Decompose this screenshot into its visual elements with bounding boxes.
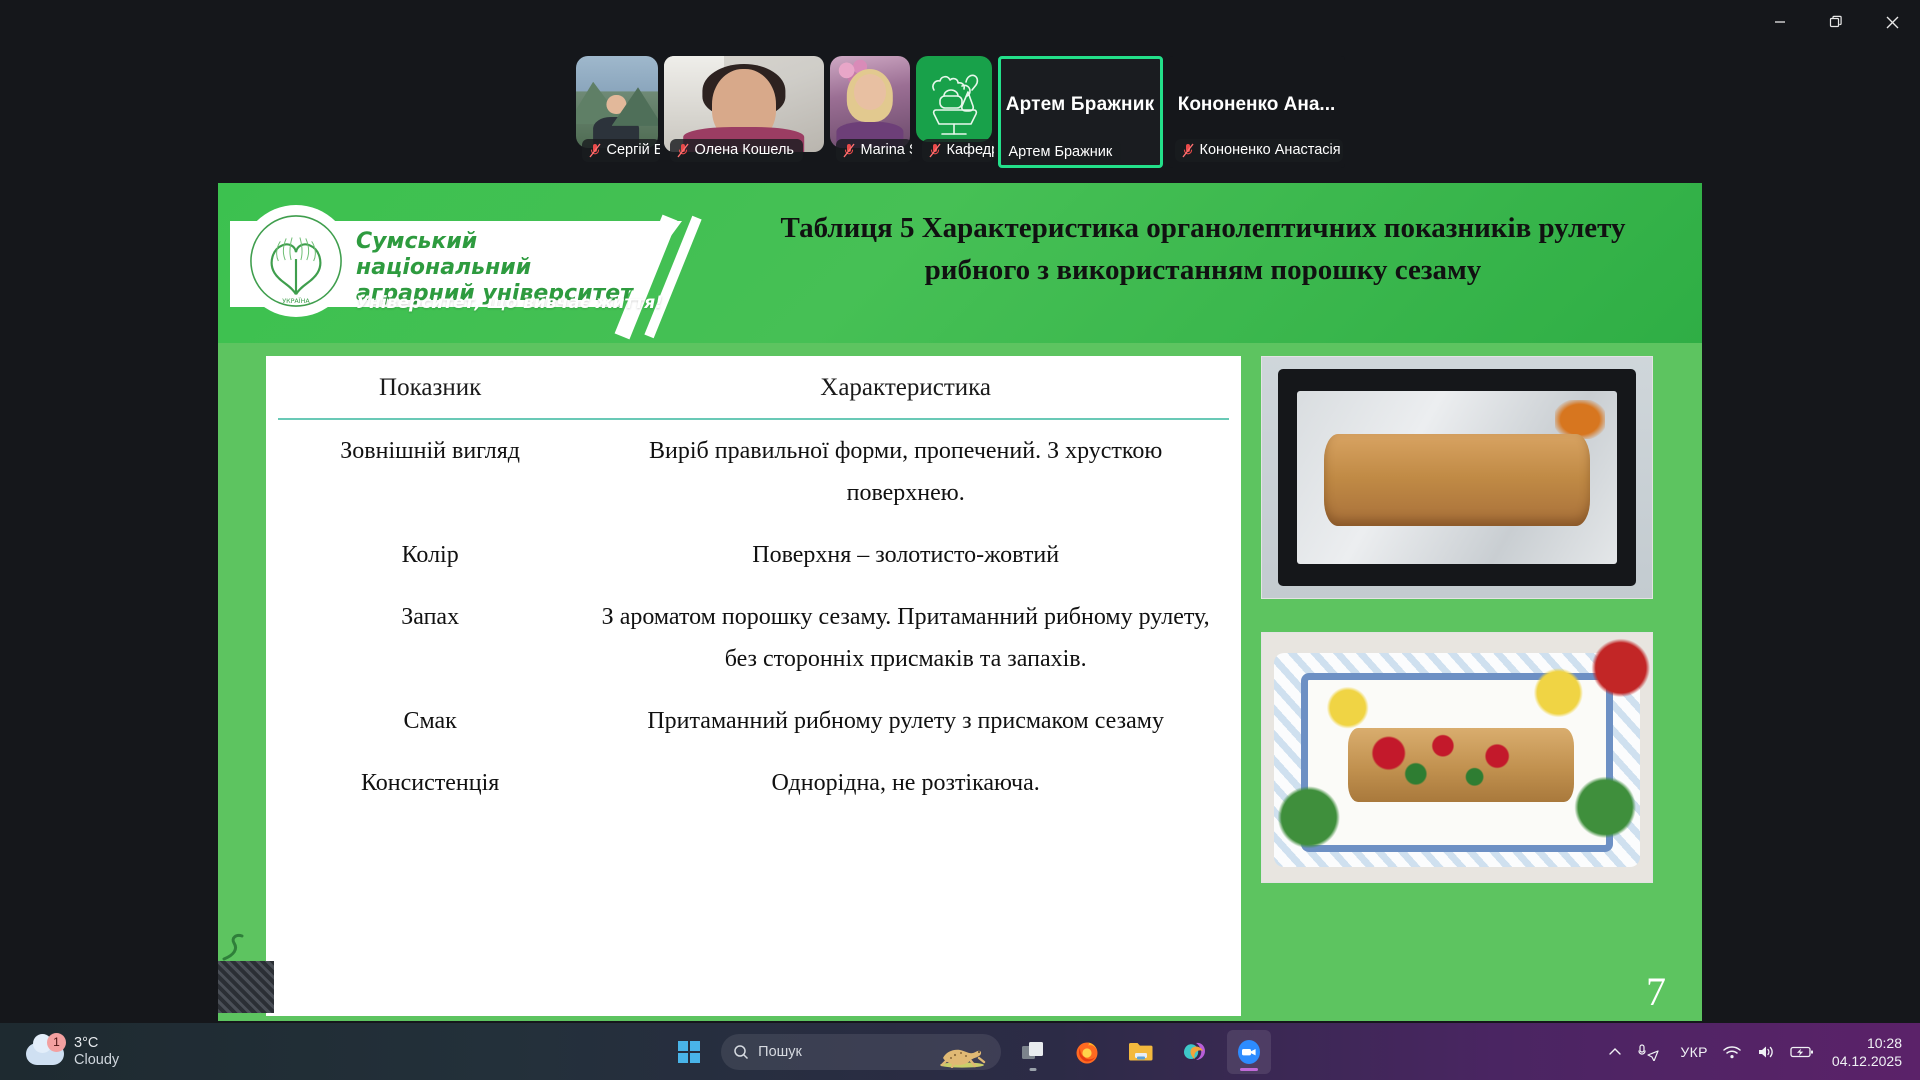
notification-badge: 1 (47, 1033, 66, 1052)
weather-temperature: 3°C (74, 1035, 119, 1052)
microphone-sharing-icon[interactable] (1636, 1043, 1666, 1061)
active-speaker-name: Артем Бражник (1006, 94, 1155, 130)
cell-description: З ароматом порошку сезаму. Притаманний р… (582, 586, 1229, 690)
organoleptic-table-card: Показник Характеристика Зовнішній вигляд… (266, 356, 1241, 1016)
system-tray: УКР 10:28 04.12.2025 (1608, 1034, 1920, 1070)
column-header-characteristic: Характеристика (582, 356, 1229, 419)
slide-title: Таблиця 5 Характеристика органолептичних… (738, 207, 1668, 291)
clock-time: 10:28 (1832, 1034, 1902, 1052)
copilot-button[interactable] (1173, 1030, 1217, 1074)
cell-indicator: Смак (278, 690, 582, 752)
cell-indicator: Зовнішній вигляд (278, 419, 582, 524)
university-name-line1: Сумський національний (356, 229, 656, 281)
slide-images (1261, 356, 1653, 883)
participant-name: Кафедра Технології ха... (947, 142, 995, 158)
cell-indicator: Колір (278, 524, 582, 586)
windows-logo-icon (678, 1041, 700, 1063)
participant-tile-active-speaker[interactable]: Артем Бражник Артем Бражник (998, 56, 1163, 168)
mic-off-icon (1182, 143, 1194, 158)
task-view-button[interactable] (1011, 1030, 1055, 1074)
taskbar-apps: Пошук (330, 1030, 1608, 1074)
baked-roll-photo (1261, 356, 1653, 599)
participant-name-chip: Marina Savchenko (836, 139, 913, 162)
participant-name: Кононенко Анастасія (1200, 142, 1341, 158)
clock-date: 04.12.2025 (1832, 1052, 1902, 1070)
taskbar: 1 3°C Cloudy Пошук (0, 1023, 1920, 1080)
task-view-icon (1021, 1041, 1045, 1063)
table-row: Смак Притаманний рибному рулету з присма… (278, 690, 1229, 752)
participant-name-chip: Кафедра Технології ха... (922, 139, 995, 162)
table-row: Запах З ароматом порошку сезаму. Притама… (278, 586, 1229, 690)
weather-text: 3°C Cloudy (74, 1035, 119, 1069)
participant-avatar (830, 56, 910, 148)
table-header-row: Показник Характеристика (278, 356, 1229, 419)
cell-indicator: Запах (278, 586, 582, 690)
window-controls (1752, 0, 1920, 44)
firefox-icon (1074, 1039, 1100, 1065)
weather-widget[interactable]: 1 3°C Cloudy (0, 1035, 330, 1069)
close-button[interactable] (1864, 0, 1920, 44)
participant-tile[interactable]: Marina Savchenko (830, 56, 910, 168)
participant-tile[interactable]: Сергій Боковець (576, 56, 658, 168)
slide-header: УКРАЇНА Сумський національний аграрний у… (218, 183, 1702, 343)
language-indicator[interactable]: УКР (1680, 1044, 1708, 1060)
volume-icon[interactable] (1756, 1044, 1776, 1060)
cheetah-icon (933, 1038, 991, 1068)
participant-name-chip: Олена Кошель (670, 139, 803, 162)
participant-tile[interactable]: Олена Кошель (664, 56, 824, 168)
plated-roll-photo (1261, 632, 1653, 883)
food-technology-logo-icon (916, 56, 992, 142)
squiggle-decoration (220, 921, 264, 961)
participant-name-chip: Сергій Боковець (582, 139, 661, 162)
file-explorer-button[interactable] (1119, 1030, 1163, 1074)
weather-condition: Cloudy (74, 1052, 119, 1069)
wifi-icon[interactable] (1722, 1044, 1742, 1060)
minimize-button[interactable] (1752, 0, 1808, 44)
battery-charging-icon[interactable] (1790, 1044, 1814, 1060)
participant-video (664, 56, 824, 152)
participant-name: Олена Кошель (695, 142, 794, 158)
cell-description: Притаманний рибному рулету з присмаком с… (582, 690, 1229, 752)
participant-tile[interactable]: Кафедра Технології ха... (916, 56, 992, 168)
table-row: Зовнішній вигляд Виріб правильної форми,… (278, 419, 1229, 524)
mic-off-icon (677, 143, 689, 158)
table-row: Колір Поверхня – золотисто-жовтий (278, 524, 1229, 586)
mic-off-icon (929, 143, 941, 158)
university-tagline: Університет, що вивчає життя! (356, 293, 663, 313)
shared-screen-slide[interactable]: УКРАЇНА Сумський національний аграрний у… (218, 183, 1702, 1021)
zoom-button[interactable] (1227, 1030, 1271, 1074)
mic-off-icon (843, 143, 855, 158)
participant-tile[interactable]: Кононенко Ана... Кононенко Анастасія (1169, 56, 1345, 168)
maximize-restore-button[interactable] (1808, 0, 1864, 44)
clock[interactable]: 10:28 04.12.2025 (1828, 1034, 1902, 1070)
hatched-placeholder (218, 961, 274, 1013)
slide-number: 7 (1646, 968, 1666, 1015)
zoom-icon (1236, 1039, 1262, 1065)
search-icon (733, 1044, 749, 1060)
copilot-icon (1182, 1039, 1208, 1065)
participant-name: Артем Бражник (1009, 144, 1113, 160)
participant-name-chip: Кононенко Анастасія (1175, 139, 1344, 162)
university-emblem-icon: УКРАЇНА (240, 205, 352, 317)
university-logo: УКРАЇНА Сумський національний аграрний у… (230, 201, 750, 321)
participant-avatar-logo (916, 56, 992, 142)
mic-off-icon (589, 143, 601, 158)
participant-name: Marina Savchenko (861, 142, 913, 158)
emblem-country-text: УКРАЇНА (282, 296, 310, 305)
participant-name-chip: Артем Бражник (1002, 141, 1122, 164)
start-button[interactable] (667, 1030, 711, 1074)
slide-body: Показник Характеристика Зовнішній вигляд… (218, 343, 1702, 1021)
firefox-button[interactable] (1065, 1030, 1109, 1074)
search-placeholder: Пошук (758, 1044, 802, 1060)
search-box[interactable]: Пошук (721, 1034, 1001, 1070)
participant-strip: Сергій Боковець Олена Кошель Marina Sa (0, 56, 1920, 176)
table-row: Консистенція Однорідна, не розтікаюча. (278, 752, 1229, 814)
participant-display-name: Кононенко Ана... (1178, 94, 1336, 130)
cell-description: Виріб правильної форми, пропечений. З хр… (582, 419, 1229, 524)
cell-description: Поверхня – золотисто-жовтий (582, 524, 1229, 586)
organoleptic-table: Показник Характеристика Зовнішній вигляд… (278, 356, 1229, 814)
column-header-indicator: Показник (278, 356, 582, 419)
participant-avatar (576, 56, 658, 148)
weather-cloud-icon: 1 (26, 1035, 64, 1069)
chevron-up-icon[interactable] (1608, 1045, 1622, 1059)
cell-description: Однорідна, не розтікаюча. (582, 752, 1229, 814)
cell-indicator: Консистенція (278, 752, 582, 814)
participant-name: Сергій Боковець (607, 142, 661, 158)
folder-icon (1128, 1040, 1154, 1064)
